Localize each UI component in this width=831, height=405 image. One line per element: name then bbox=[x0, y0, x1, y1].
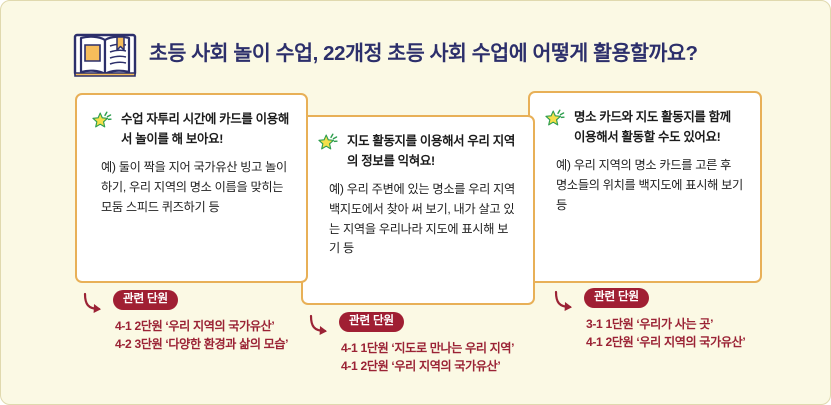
card-heading: 지도 활동지를 이용해서 우리 지역의 정보를 익혀요! bbox=[347, 131, 517, 171]
card-head: 지도 활동지를 이용해서 우리 지역의 정보를 익혀요! bbox=[317, 131, 517, 171]
infographic-page: 초등 사회 놀이 수업, 22개정 초등 사회 수업에 어떻게 활용할까요? 수… bbox=[0, 0, 831, 405]
page-title: 초등 사회 놀이 수업, 22개정 초등 사회 수업에 어떻게 활용할까요? bbox=[149, 44, 698, 65]
star-icon bbox=[91, 110, 114, 133]
card-3-footer: 관련 단원 3-1 1단원 ‘우리가 사는 곳’ 4-1 2단원 ‘우리 지역의… bbox=[552, 287, 745, 352]
unit-line: 4-1 1단원 ‘지도로 만나는 우리 지역’ bbox=[341, 339, 514, 357]
footer-body: 관련 단원 4-1 1단원 ‘지도로 만나는 우리 지역’ 4-1 2단원 ‘우… bbox=[339, 311, 514, 376]
open-book-icon bbox=[73, 29, 137, 79]
unit-line: 4-2 3단원 ‘다양한 환경과 삶의 모습’ bbox=[115, 335, 288, 353]
card-example: 예) 우리 지역의 명소 카드를 고른 후 명소들의 위치를 백지도에 표시해 … bbox=[544, 156, 744, 215]
activity-card-3: 명소 카드와 지도 활동지를 함께 이용해서 활동할 수도 있어요! 예) 우리… bbox=[528, 91, 762, 283]
activity-card-2: 지도 활동지를 이용해서 우리 지역의 정보를 익혀요! 예) 우리 주변에 있… bbox=[301, 115, 535, 305]
unit-list: 3-1 1단원 ‘우리가 사는 곳’ 4-1 2단원 ‘우리 지역의 국가유산’ bbox=[586, 315, 745, 352]
curved-arrow-icon bbox=[81, 291, 107, 317]
star-icon bbox=[317, 132, 340, 155]
unit-line: 3-1 1단원 ‘우리가 사는 곳’ bbox=[586, 315, 745, 333]
card-example: 예) 우리 주변에 있는 명소를 우리 지역 백지도에서 찾아 써 보기, 내가… bbox=[317, 180, 517, 259]
card-head: 수업 자투리 시간에 카드를 이용해서 놀이를 해 보아요! bbox=[91, 109, 290, 149]
activity-card-1: 수업 자투리 시간에 카드를 이용해서 놀이를 해 보아요! 예) 둘이 짝을 … bbox=[75, 93, 308, 283]
page-header: 초등 사회 놀이 수업, 22개정 초등 사회 수업에 어떻게 활용할까요? bbox=[73, 29, 698, 79]
curved-arrow-icon bbox=[307, 313, 333, 339]
status-badge: 관련 단원 bbox=[339, 312, 404, 332]
card-heading: 수업 자투리 시간에 카드를 이용해서 놀이를 해 보아요! bbox=[121, 109, 290, 149]
unit-line: 4-1 2단원 ‘우리 지역의 국가유산’ bbox=[586, 333, 745, 351]
footer-body: 관련 단원 4-1 2단원 ‘우리 지역의 국가유산’ 4-2 3단원 ‘다양한… bbox=[113, 289, 288, 354]
unit-line: 4-1 2단원 ‘우리 지역의 국가유산’ bbox=[341, 357, 514, 375]
status-badge: 관련 단원 bbox=[584, 288, 649, 308]
unit-line: 4-1 2단원 ‘우리 지역의 국가유산’ bbox=[115, 317, 288, 335]
unit-list: 4-1 2단원 ‘우리 지역의 국가유산’ 4-2 3단원 ‘다양한 환경과 삶… bbox=[115, 317, 288, 354]
curved-arrow-icon bbox=[552, 289, 578, 315]
star-icon bbox=[544, 108, 567, 131]
footer-body: 관련 단원 3-1 1단원 ‘우리가 사는 곳’ 4-1 2단원 ‘우리 지역의… bbox=[584, 287, 745, 352]
card-heading: 명소 카드와 지도 활동지를 함께 이용해서 활동할 수도 있어요! bbox=[574, 107, 744, 147]
status-badge: 관련 단원 bbox=[113, 290, 178, 310]
card-head: 명소 카드와 지도 활동지를 함께 이용해서 활동할 수도 있어요! bbox=[544, 107, 744, 147]
card-2-footer: 관련 단원 4-1 1단원 ‘지도로 만나는 우리 지역’ 4-1 2단원 ‘우… bbox=[307, 311, 514, 376]
card-example: 예) 둘이 짝을 지어 국가유산 빙고 놀이하기, 우리 지역의 명소 이름을 … bbox=[91, 158, 290, 217]
card-1-footer: 관련 단원 4-1 2단원 ‘우리 지역의 국가유산’ 4-2 3단원 ‘다양한… bbox=[81, 289, 288, 354]
unit-list: 4-1 1단원 ‘지도로 만나는 우리 지역’ 4-1 2단원 ‘우리 지역의 … bbox=[341, 339, 514, 376]
